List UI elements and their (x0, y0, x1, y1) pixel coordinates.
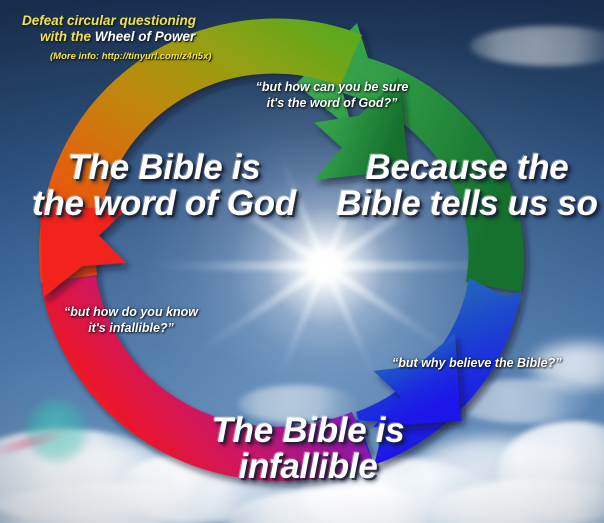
title-subtitle-url: (More info: http://tinyurl.com/z4n5x) (22, 51, 322, 62)
statement-bible-is-word-of-god: The Bible is the word of God (24, 150, 304, 221)
meme-image: Defeat circular questioning with the Whe… (0, 0, 604, 523)
statement-because-bible-tells-us-so: Because the Bible tells us so (336, 150, 598, 221)
quote-how-can-you-be-sure: “but how can you be sure it's the word o… (242, 80, 422, 111)
title-line-2-prefix: with the (40, 29, 95, 44)
quote-why-believe-the-bible: “but why believe the Bible?” (392, 356, 582, 372)
quote-how-do-you-know-infallible: “but how do you know it's infallible?” (52, 305, 210, 336)
title-line-1: Defeat circular questioning (22, 13, 322, 29)
title-line-2-emphasis: Wheel of Power (95, 29, 196, 44)
title-block: Defeat circular questioning with the Whe… (22, 13, 322, 62)
title-line-2: with the Wheel of Power (22, 29, 322, 45)
statement-bible-is-infallible: The Bible is infallible (168, 413, 448, 484)
